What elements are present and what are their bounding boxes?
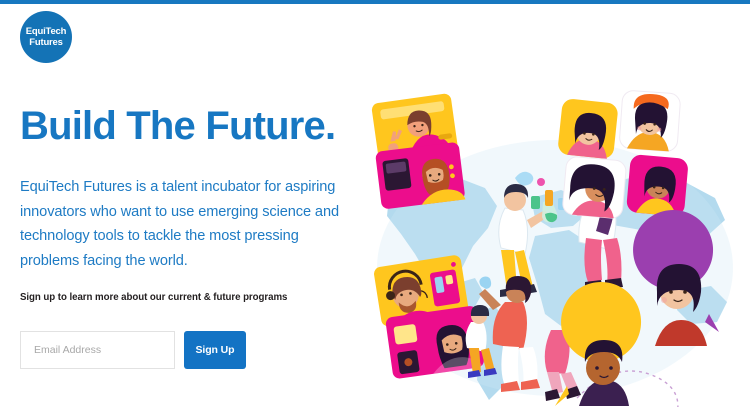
portrait-tile-pink (626, 154, 689, 217)
portrait-tile-white-bottom (562, 156, 627, 219)
page-title: Build The Future. (20, 103, 365, 149)
hero-text-block: Build The Future. EquiTech Futures is a … (20, 103, 365, 273)
logo-line-2: Futures (29, 37, 62, 49)
sign-up-button[interactable]: Sign Up (184, 331, 246, 369)
signup-label: Sign up to learn more about our current … (20, 292, 287, 303)
hero-illustration (355, 78, 750, 407)
video-tile-pink-top (375, 142, 465, 210)
hero-description: EquiTech Futures is a talent incubator f… (20, 175, 350, 273)
logo[interactable]: EquiTech Futures (20, 11, 72, 63)
logo-line-1: EquiTech (26, 26, 66, 38)
portrait-tile-yellow (557, 98, 619, 160)
email-field[interactable] (20, 331, 175, 369)
signup-form: Sign Up (20, 331, 246, 369)
top-accent-bar (0, 0, 750, 4)
portrait-tile-white-top (619, 90, 681, 152)
